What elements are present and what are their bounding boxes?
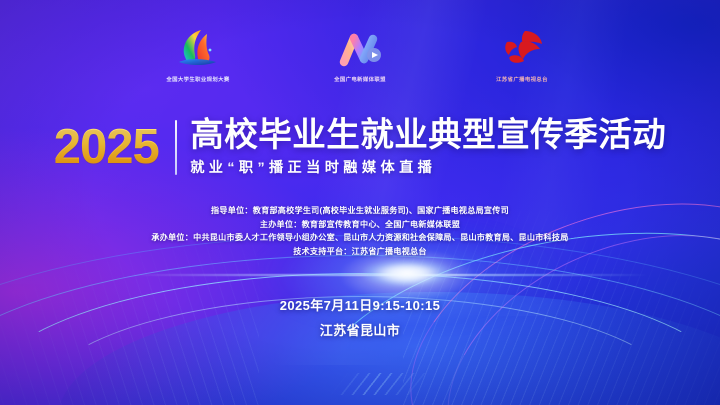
event-date: 2025年7月11日9:15-10:15 bbox=[280, 295, 441, 314]
title-text-group: 高校毕业生就业典型宣传季活动 就业“职”播正当时融媒体直播 bbox=[190, 118, 666, 177]
credit-line-guidance: 指导单位：教育部高校学生司(高校毕业生就业服务司)、国家广播电视总局宣传司 bbox=[211, 205, 509, 216]
event-datetime-block: 2025年7月11日9:15-10:15 江苏省昆山市 bbox=[0, 295, 720, 339]
chevron-accent-marks bbox=[330, 373, 437, 395]
orbit-ring-inner bbox=[0, 273, 720, 405]
logo-caption-career-competition: 全国大学生职业规划大赛 bbox=[166, 75, 229, 83]
pink-arc-streak bbox=[373, 152, 720, 405]
credit-line-co-organizer: 承办单位：中共昆山市委人才工作领导小组办公室、昆山市人力资源和社会保障局、昆山市… bbox=[151, 232, 568, 243]
title-divider bbox=[175, 120, 177, 175]
year-2025: 2025 bbox=[54, 119, 175, 176]
logo-caption-media-alliance: 全国广电新媒体联盟 bbox=[334, 75, 386, 83]
logo-block-jiangsu-broadcasting: 江苏省广播电视总台 bbox=[462, 26, 582, 83]
event-place: 江苏省昆山市 bbox=[320, 320, 400, 339]
title-area: 2025 高校毕业生就业典型宣传季活动 就业“职”播正当时融媒体直播 bbox=[0, 118, 720, 177]
horizon-light-line bbox=[130, 274, 648, 276]
logo-block-career-competition: 全国大学生职业规划大赛 bbox=[138, 26, 258, 83]
page-title: 高校毕业生就业典型宣传季活动 bbox=[190, 118, 666, 155]
jiangsu-broadcasting-red-icon bbox=[499, 26, 545, 70]
promotional-poster: 全国大学生职业规划大赛 bbox=[0, 0, 720, 405]
page-subtitle: 就业“职”播正当时融媒体直播 bbox=[190, 160, 666, 177]
credit-line-organizer: 主办单位：教育部宣传教育中心、全国广电新媒体联盟 bbox=[260, 219, 460, 230]
sponsor-logo-row: 全国大学生职业规划大赛 bbox=[0, 26, 720, 83]
credit-line-tech-support: 技术支持平台：江苏省广播电视总台 bbox=[293, 246, 427, 257]
letter-m-play-button-icon bbox=[337, 26, 383, 70]
crescent-flame-multicolor-icon bbox=[176, 26, 220, 70]
center-glow-hotspot bbox=[364, 260, 450, 286]
credits-block: 指导单位：教育部高校学生司(高校毕业生就业服务司)、国家广播电视总局宣传司 主办… bbox=[0, 205, 720, 257]
logo-block-media-alliance: 全国广电新媒体联盟 bbox=[300, 26, 420, 83]
logo-caption-jiangsu-broadcasting: 江苏省广播电视总台 bbox=[496, 75, 548, 83]
